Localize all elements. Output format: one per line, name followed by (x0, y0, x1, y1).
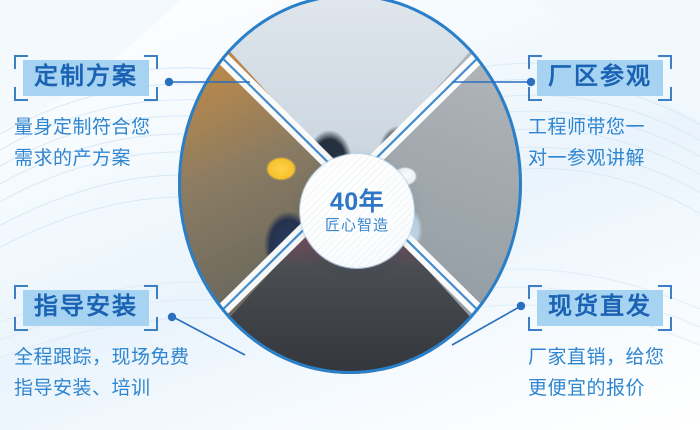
feature-title: 定制方案 (23, 60, 149, 96)
bracket-corner-bottom-right-icon (658, 87, 672, 101)
feature-description-line: 更便宜的报价 (528, 374, 700, 405)
feature-description: 工程师带您一 对一参观讲解 (528, 113, 700, 175)
feature-tag-wrapper: 现货直发 (528, 285, 672, 331)
feature-block-top-right[interactable]: 厂区参观 工程师带您一 对一参观讲解 (528, 55, 700, 174)
bracket-corner-top-left-icon (14, 55, 28, 69)
feature-description: 厂家直销，给您 更便宜的报价 (528, 343, 700, 405)
feature-tag-wrapper: 指导安装 (14, 285, 158, 331)
bracket-corner-top-left-icon (14, 285, 28, 299)
feature-description: 量身定制符合您 需求的产方案 (14, 113, 244, 175)
bracket-corner-bottom-right-icon (658, 317, 672, 331)
feature-description-line: 指导安装、培训 (14, 374, 244, 405)
feature-description-line: 厂家直销，给您 (528, 343, 700, 374)
feature-description-line: 全程跟踪，现场免费 (14, 343, 244, 374)
bracket-corner-top-right-icon (658, 55, 672, 69)
bracket-corner-top-right-icon (658, 285, 672, 299)
bracket-corner-top-right-icon (144, 55, 158, 69)
feature-description-line: 对一参观讲解 (528, 144, 700, 175)
feature-title: 指导安装 (23, 290, 149, 326)
feature-title: 厂区参观 (537, 60, 663, 96)
bracket-corner-bottom-right-icon (144, 87, 158, 101)
bracket-corner-bottom-left-icon (14, 87, 28, 101)
feature-tag-wrapper: 厂区参观 (528, 55, 672, 101)
feature-title: 现货直发 (537, 290, 663, 326)
bracket-corner-top-left-icon (528, 285, 542, 299)
feature-block-bottom-left[interactable]: 指导安装 全程跟踪，现场免费 指导安装、培训 (14, 285, 244, 404)
feature-tag-wrapper: 定制方案 (14, 55, 158, 101)
bracket-corner-bottom-left-icon (528, 87, 542, 101)
feature-description-line: 需求的产方案 (14, 144, 244, 175)
bracket-corner-bottom-right-icon (144, 317, 158, 331)
bracket-corner-top-right-icon (144, 285, 158, 299)
badge-subline: 匠心智造 (325, 218, 389, 233)
feature-block-bottom-right[interactable]: 现货直发 厂家直销，给您 更便宜的报价 (528, 285, 700, 404)
feature-description-line: 量身定制符合您 (14, 113, 244, 144)
feature-description-line: 工程师带您一 (528, 113, 700, 144)
promo-banner: 40年 匠心智造 定制方案 (0, 0, 700, 430)
bracket-corner-bottom-left-icon (528, 317, 542, 331)
feature-description: 全程跟踪，现场免费 指导安装、培训 (14, 343, 244, 405)
feature-block-top-left[interactable]: 定制方案 量身定制符合您 需求的产方案 (14, 55, 244, 174)
badge-headline: 40年 (330, 190, 384, 215)
bracket-corner-top-left-icon (528, 55, 542, 69)
bracket-corner-bottom-left-icon (14, 317, 28, 331)
center-badge: 40年 匠心智造 (300, 154, 414, 268)
